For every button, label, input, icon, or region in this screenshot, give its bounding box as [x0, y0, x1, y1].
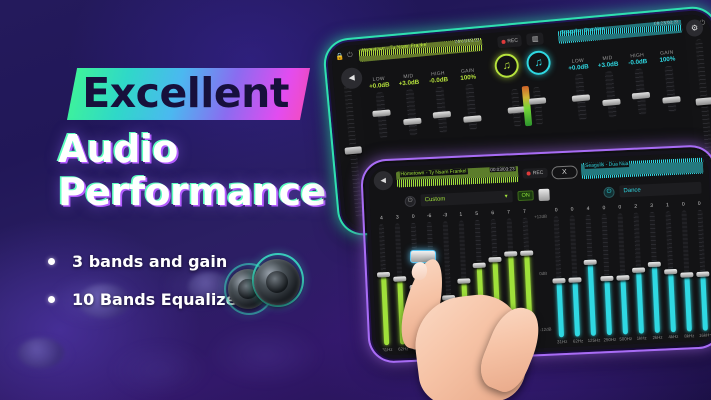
eq-band-fill	[700, 275, 708, 331]
preset-select-right[interactable]: Dance	[619, 182, 701, 198]
fader-thumb[interactable]	[528, 97, 545, 105]
eq-band-slider[interactable]	[633, 213, 643, 334]
eq-band-fill	[668, 272, 676, 333]
band-fader[interactable]	[376, 92, 388, 139]
channel-fader-left[interactable]	[510, 89, 520, 127]
band-high[interactable]: HIGH -0.0dB	[624, 52, 656, 116]
highlight-word: Excellent	[82, 71, 289, 115]
fader-thumb[interactable]	[602, 98, 620, 106]
chevron-down-icon[interactable]: ▼	[504, 193, 509, 199]
eq-bank-right: 031Hz062Hz4125Hz0250Hz0500Hz21kHz32kHz14…	[548, 198, 711, 347]
band-value: 100%	[455, 73, 482, 82]
eq-toggle-switch[interactable]	[539, 189, 551, 201]
page-title: Audio Performance	[58, 128, 358, 214]
rec-button[interactable]: REC	[523, 168, 548, 179]
band-mid[interactable]: MID +3.0dB	[594, 54, 626, 118]
band-value: 100%	[654, 55, 681, 64]
eq-band-slider[interactable]	[649, 212, 659, 333]
power-icon[interactable]: ⏻	[347, 52, 353, 60]
eq-band-frequency-label: 31Hz	[382, 347, 393, 355]
eq-band-thumb[interactable]	[377, 272, 390, 278]
eq-band-slider[interactable]	[697, 210, 707, 331]
speaker-illustration	[228, 255, 300, 317]
power-icon[interactable]: ⏻	[404, 195, 415, 206]
eq-band-frequency-label: 125Hz	[588, 337, 601, 346]
eq-band-gain-value: -3	[443, 212, 448, 219]
eq-band-slider[interactable]	[618, 213, 628, 334]
speaker-cone-icon	[254, 259, 300, 305]
preset-value-left: Custom	[425, 196, 446, 203]
fader-thumb[interactable]	[463, 115, 481, 123]
bullet-dot-icon	[48, 296, 55, 303]
highlight-banner: Excellent	[67, 68, 310, 120]
eq-band-slider[interactable]	[586, 215, 596, 336]
eq-band-slider[interactable]	[665, 211, 675, 332]
fader-thumb[interactable]	[695, 97, 711, 106]
band-low[interactable]: LOW +0.0dB	[564, 57, 596, 121]
eq-band-fill	[621, 279, 629, 335]
eq-band-gain-value: 1	[459, 212, 462, 219]
eq-band-thumb[interactable]	[584, 260, 597, 266]
band-value: +3.0dB	[595, 60, 622, 69]
rec-button[interactable]: REC	[497, 34, 523, 48]
eq-band-gain-value: 1	[666, 202, 669, 209]
eq-band-thumb[interactable]	[601, 276, 614, 282]
fader-thumb[interactable]	[373, 110, 391, 118]
eq-band-thumb[interactable]	[696, 272, 709, 278]
eq-band-gain-value: 7	[507, 209, 510, 216]
preset-value-right: Dance	[623, 187, 641, 194]
eq-band-thumb[interactable]	[664, 268, 677, 274]
eq-toggle-label[interactable]: ON	[517, 190, 534, 201]
eq-band-thumb[interactable]	[553, 278, 566, 284]
eq-band-thumb[interactable]	[680, 273, 693, 279]
eq-band-frequency-label: 2kHz	[652, 335, 662, 343]
cue-button-left[interactable]: ♫	[494, 53, 520, 79]
eq-band-frequency-label: 62Hz	[573, 338, 584, 346]
eq-band-fill	[573, 281, 581, 337]
preset-select-left[interactable]: Custom ▼	[420, 190, 512, 206]
level-meter	[521, 86, 532, 126]
eq-band-gain-value: 0	[602, 205, 605, 212]
track-title-left: Hometown - Ty Nsam Frankel	[399, 168, 467, 177]
eq-band-frequency-label: 4kHz	[668, 334, 678, 342]
band-high[interactable]: HIGH -0.0dB	[424, 70, 456, 134]
fader-thumb[interactable]	[433, 111, 451, 119]
list-item: 10 Bands Equalizer	[48, 290, 244, 309]
eq-band-gain-value: 5	[475, 211, 478, 218]
bullet-dot-icon	[48, 258, 55, 265]
eq-band-frequency-label: 31Hz	[557, 339, 568, 347]
eq-band-frequency-label: 16kHz	[699, 332, 711, 341]
fader-thumb[interactable]	[662, 96, 680, 104]
band-value: +0.0dB	[565, 63, 592, 72]
waveform-left[interactable]: Hometown - Ty Nsam Frankel 00:03/03:23	[396, 166, 519, 188]
back-arrow-icon[interactable]: ◄	[373, 170, 393, 190]
headline-line-1: Audio	[58, 128, 358, 171]
crossfader-left[interactable]	[342, 71, 362, 218]
eq-band-gain-value: 0	[618, 204, 621, 211]
eq-band-frequency-label: 500Hz	[619, 336, 632, 345]
feature-label: 3 bands and gain	[72, 252, 227, 271]
eq-band-slider[interactable]	[570, 215, 580, 336]
eq-band-gain-value: 4	[380, 215, 383, 222]
eq-band-fill	[684, 276, 692, 332]
band-fader[interactable]	[435, 87, 447, 134]
eq-band-frequency-label: 8kHz	[684, 333, 694, 341]
eq-band-gain-value: 4	[587, 206, 590, 213]
cue-button-right[interactable]: ♫	[526, 50, 552, 76]
power-icon[interactable]: ⏻	[603, 186, 614, 197]
eq-band-gain-value: 0	[698, 201, 701, 208]
eq-band-gain-value: 0	[571, 207, 574, 214]
band-controls-left: LOW +0.0dB MID +3.0dB HIGH -0.0dB	[361, 67, 490, 140]
eq-band-slider[interactable]	[379, 224, 389, 345]
grid-icon[interactable]: ▥	[526, 32, 544, 45]
band-fader[interactable]	[465, 84, 477, 131]
fader-thumb[interactable]	[632, 92, 650, 100]
eq-band-fill	[636, 271, 644, 334]
eq-band-fill	[652, 265, 660, 333]
band-fader[interactable]	[634, 68, 646, 115]
eq-band-thumb[interactable]	[616, 275, 629, 281]
eq-band-thumb[interactable]	[648, 262, 661, 268]
scale-label-top: +12dB	[532, 214, 548, 220]
pointing-hand-illustration	[404, 244, 554, 400]
close-icon[interactable]: X	[551, 165, 578, 179]
rec-label: REC	[507, 38, 518, 45]
band-fader[interactable]	[575, 74, 587, 121]
eq-band-thumb[interactable]	[569, 278, 582, 284]
band-gain[interactable]: GAIN 100%	[653, 49, 685, 113]
eq-band-slider[interactable]	[602, 214, 612, 335]
eq-band-fill	[588, 263, 596, 336]
fader-thumb[interactable]	[572, 94, 590, 102]
band-value: +0.0dB	[366, 81, 393, 90]
eq-band-slider[interactable]	[554, 216, 564, 337]
waveform-right[interactable]: Seagulls - Dua Nua	[581, 158, 704, 180]
band-gain[interactable]: GAIN 100%	[454, 67, 486, 131]
band-fader[interactable]	[605, 71, 617, 118]
eq-band-fill	[557, 281, 565, 337]
eq-band-gain-value: 2	[634, 204, 637, 211]
band-low[interactable]: LOW +0.0dB	[365, 75, 397, 139]
headline-line-2: Performance	[58, 171, 358, 214]
rec-label: REC	[533, 170, 544, 176]
eq-band-thumb[interactable]	[632, 267, 645, 273]
feature-label: 10 Bands Equalizer	[72, 290, 244, 309]
channel-fader-right[interactable]	[532, 87, 542, 125]
band-value: -0.0dB	[425, 76, 452, 85]
eq-band-gain-value: 3	[396, 214, 399, 221]
fader-thumb[interactable]	[344, 147, 362, 156]
eq-band-frequency-label: 250Hz	[603, 337, 616, 346]
promo-copy: Excellent Audio Performance 3 bands and …	[0, 0, 345, 400]
track-title-right: Seagulls - Dua Nua	[584, 161, 630, 169]
rec-dot-icon	[527, 171, 531, 175]
eq-band-gain-value: 0	[682, 201, 685, 208]
band-fader[interactable]	[664, 66, 676, 113]
list-item: 3 bands and gain	[48, 252, 244, 271]
feature-list: 3 bands and gain 10 Bands Equalizer	[48, 252, 244, 328]
band-value: +3.0dB	[395, 78, 422, 87]
fader-thumb[interactable]	[507, 107, 524, 115]
band-fader[interactable]	[406, 89, 418, 136]
track-time-left: 00:03/03:23	[489, 166, 515, 172]
band-controls-right: LOW +0.0dB MID +3.0dB HIGH -0.0dB	[560, 49, 689, 122]
eq-band-gain-value: 0	[412, 214, 415, 221]
band-mid[interactable]: MID +3.0dB	[395, 72, 427, 136]
eq-band-gain-value: 6	[491, 210, 494, 217]
eq-band-fill	[382, 275, 390, 345]
band-value: -0.0dB	[624, 58, 651, 67]
rec-dot-icon	[501, 40, 505, 44]
lock-icon[interactable]: 🔒	[335, 52, 344, 61]
eq-band-gain-value: 0	[555, 207, 558, 214]
eq-band-slider[interactable]	[681, 210, 691, 331]
eq-band-gain-value: 3	[650, 203, 653, 210]
eq-band-gain-value: -6	[427, 213, 432, 220]
fader-thumb[interactable]	[403, 117, 421, 125]
eq-band-fill	[605, 279, 613, 335]
eq-band-frequency-label: 1kHz	[637, 335, 647, 343]
eq-band-gain-value: 7	[523, 209, 526, 216]
